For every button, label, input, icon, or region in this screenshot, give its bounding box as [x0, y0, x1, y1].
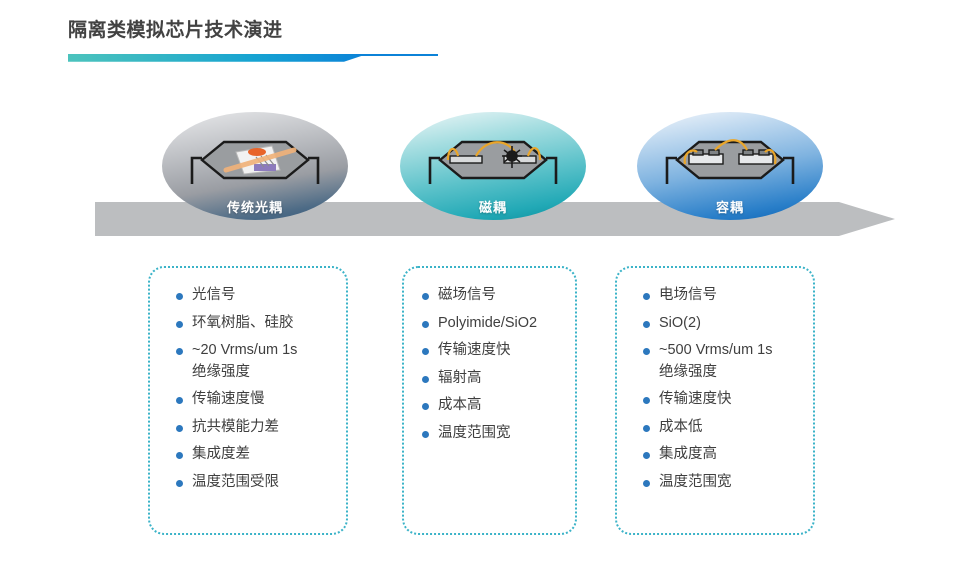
- stage-circle-magnetic[interactable]: 磁耦: [400, 112, 586, 220]
- list-item: 环氧树脂、硅胶: [176, 316, 332, 331]
- stage-circle-capacitive[interactable]: 容耦: [637, 112, 823, 220]
- list-item: SiO(2): [643, 316, 799, 331]
- list-item: 辐射高: [422, 371, 561, 386]
- bullet-list-optocoupler: 光信号 环氧树脂、硅胶 ~20 Vrms/um 1s 绝缘强度 传输速度慢 抗共…: [176, 288, 332, 489]
- feature-box-capacitive: 电场信号 SiO(2) ~500 Vrms/um 1s 绝缘强度 传输速度快 成…: [615, 266, 815, 535]
- page-title: 隔离类模拟芯片技术演进: [68, 20, 488, 43]
- list-item: 集成度差: [176, 447, 332, 462]
- list-item: 传输速度慢: [176, 392, 332, 407]
- feature-boxes: 光信号 环氧树脂、硅胶 ~20 Vrms/um 1s 绝缘强度 传输速度慢 抗共…: [0, 266, 960, 546]
- list-item: ~500 Vrms/um 1s: [643, 343, 799, 358]
- list-item: 成本高: [422, 398, 561, 413]
- list-item: 电场信号: [643, 288, 799, 303]
- list-item: 绝缘强度: [643, 365, 799, 380]
- list-item: ~20 Vrms/um 1s: [176, 343, 332, 358]
- title-underline-gradient: [68, 54, 368, 62]
- title-underline: [68, 54, 438, 63]
- list-item: 温度范围受限: [176, 475, 332, 490]
- list-item: 抗共模能力差: [176, 420, 332, 435]
- stage-circle-optocoupler[interactable]: 传统光耦: [162, 112, 348, 220]
- list-item: Polyimide/SiO2: [422, 316, 561, 331]
- list-item: 传输速度快: [422, 343, 561, 358]
- bullet-list-capacitive: 电场信号 SiO(2) ~500 Vrms/um 1s 绝缘强度 传输速度快 成…: [643, 288, 799, 489]
- list-item: 磁场信号: [422, 288, 561, 303]
- list-item: 温度范围宽: [422, 426, 561, 441]
- list-item: 成本低: [643, 420, 799, 435]
- list-item: 绝缘强度: [176, 365, 332, 380]
- feature-box-optocoupler: 光信号 环氧树脂、硅胶 ~20 Vrms/um 1s 绝缘强度 传输速度慢 抗共…: [148, 266, 348, 535]
- title-block: 隔离类模拟芯片技术演进: [68, 20, 488, 63]
- list-item: 传输速度快: [643, 392, 799, 407]
- feature-box-magnetic: 磁场信号 Polyimide/SiO2 传输速度快 辐射高 成本高 温度范围宽: [402, 266, 577, 535]
- title-underline-tail: [356, 54, 438, 56]
- list-item: 温度范围宽: [643, 475, 799, 490]
- bullet-list-magnetic: 磁场信号 Polyimide/SiO2 传输速度快 辐射高 成本高 温度范围宽: [422, 288, 561, 440]
- stage-label-capacitive: 容耦: [637, 197, 823, 216]
- list-item: 光信号: [176, 288, 332, 303]
- stage-label-optocoupler: 传统光耦: [162, 197, 348, 216]
- stage-label-magnetic: 磁耦: [400, 197, 586, 216]
- list-item: 集成度高: [643, 447, 799, 462]
